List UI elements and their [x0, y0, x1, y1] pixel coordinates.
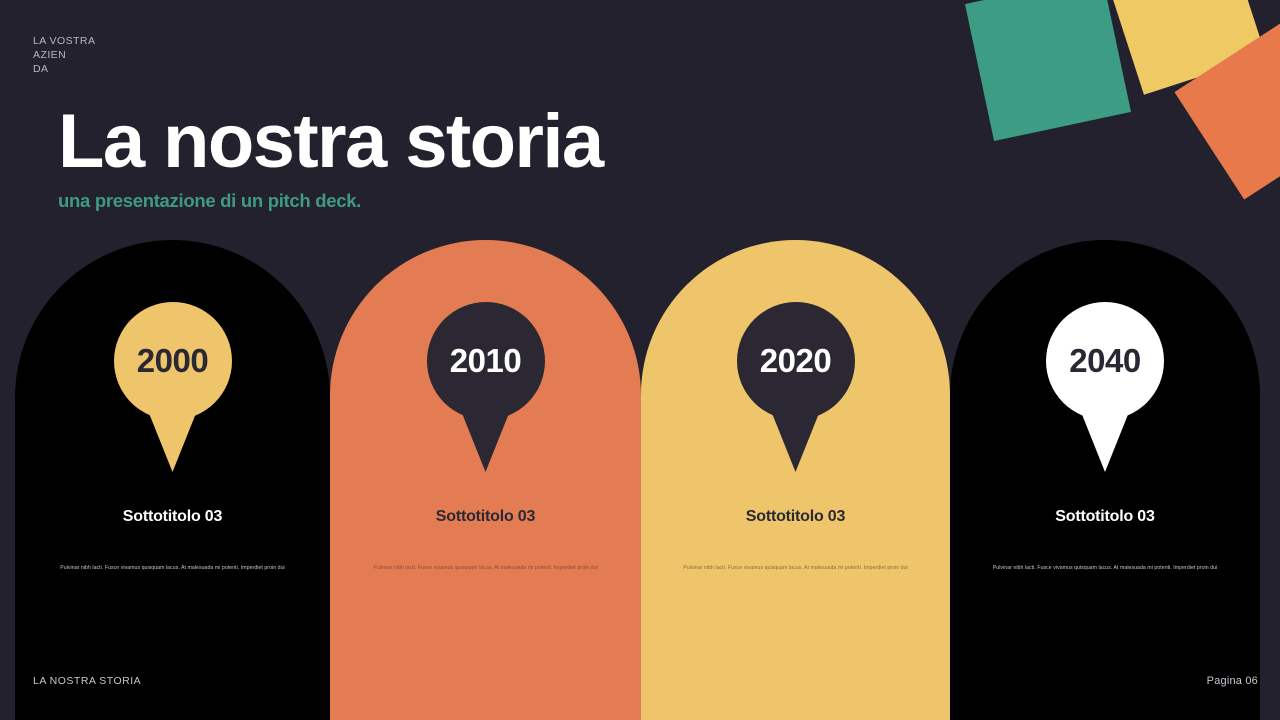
timeline-year-label: 2000	[114, 302, 232, 420]
timeline-year-label: 2020	[737, 302, 855, 420]
column-subtitle: Sottotitolo 03	[15, 508, 330, 526]
timeline-year-label: 2010	[427, 302, 545, 420]
timeline-arch-group: 2000 Sottotitolo 03 Pulvinar nibh lacti.…	[0, 0, 1280, 720]
footer-page-number: Pagina 06	[1207, 675, 1258, 687]
slide-canvas: LA VOSTRA AZIEN DA La nostra storia una …	[0, 0, 1280, 720]
column-subtitle: Sottotitolo 03	[950, 508, 1260, 526]
column-subtitle: Sottotitolo 03	[330, 508, 641, 526]
column-body-text: Pulvinar nibh lacti. Fusce vivamus quisq…	[962, 565, 1248, 573]
timeline-column-2040[interactable]: 2040 Sottotitolo 03 Pulvinar nibh lacti.…	[950, 240, 1260, 720]
timeline-column-2020[interactable]: 2020 Sottotitolo 03 Pulvinar nibh lacti.…	[641, 240, 950, 720]
column-body-text: Pulvinar nibh lacti. Fusce vivamus quisq…	[342, 565, 629, 573]
map-pin-2020: 2020	[737, 302, 855, 472]
column-subtitle: Sottotitolo 03	[641, 508, 950, 526]
column-body-text: Pulvinar nibh lacti. Fusce vivamus quisq…	[653, 565, 938, 573]
footer-section-label: LA NOSTRA STORIA	[33, 675, 141, 687]
map-pin-2000: 2000	[114, 302, 232, 472]
map-pin-2040: 2040	[1046, 302, 1164, 472]
timeline-column-2000[interactable]: 2000 Sottotitolo 03 Pulvinar nibh lacti.…	[15, 240, 330, 720]
timeline-column-2010[interactable]: 2010 Sottotitolo 03 Pulvinar nibh lacti.…	[330, 240, 641, 720]
map-pin-2010: 2010	[427, 302, 545, 472]
timeline-year-label: 2040	[1046, 302, 1164, 420]
column-body-text: Pulvinar nibh lacti. Fusce vivamus quisq…	[27, 565, 318, 573]
